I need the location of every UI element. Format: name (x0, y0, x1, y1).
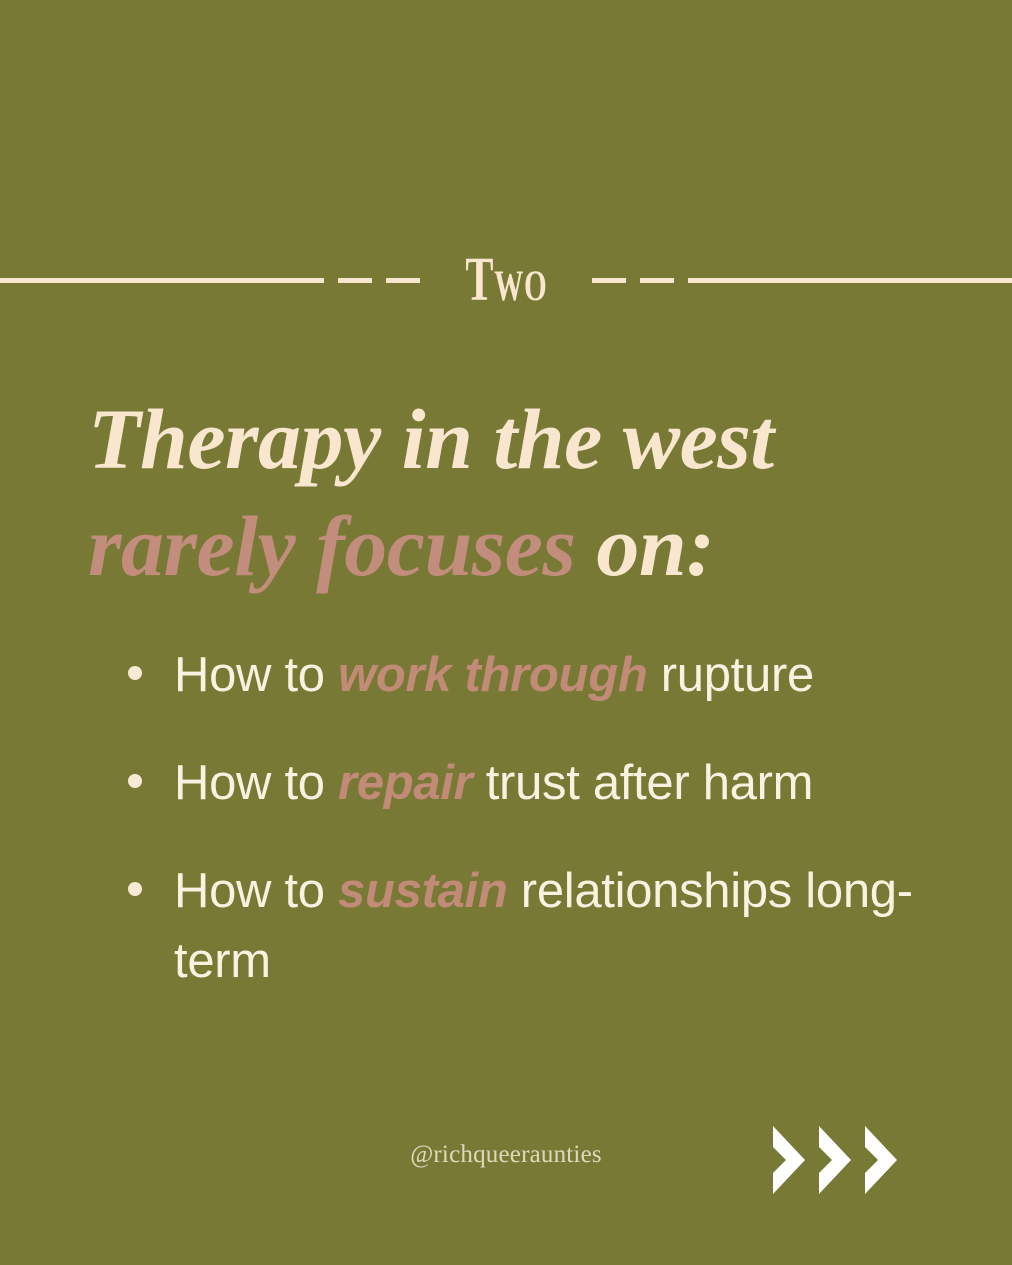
divider-right-rules (592, 232, 1012, 328)
divider-solid-rule-right (688, 278, 1012, 283)
divider-dash-right-2 (640, 278, 674, 283)
bullet-prefix: How to (174, 864, 338, 918)
bullet-emphasis: sustain (338, 864, 507, 918)
bullet-list: How to work through rupture How to repai… (128, 640, 928, 996)
divider-dash-left-2 (386, 278, 420, 283)
bullet-emphasis: repair (338, 756, 472, 810)
bullet-dot-icon (128, 666, 142, 680)
bullet-suffix: trust after harm (472, 756, 813, 810)
divider-dash-right-1 (592, 278, 626, 283)
bullet-dot-icon (128, 774, 142, 788)
bullet-text: How to work through rupture (174, 640, 928, 710)
bullet-dot-icon (128, 882, 142, 896)
headline-line-2-plain: on: (596, 498, 714, 594)
bullet-text: How to sustain relationships long-term (174, 856, 928, 996)
headline-accent: rarely focuses (88, 498, 575, 594)
divider-solid-rule-left (0, 278, 324, 283)
list-item: How to sustain relationships long-term (128, 856, 928, 996)
list-item: How to work through rupture (128, 640, 928, 710)
bullet-emphasis: work through (338, 648, 647, 702)
divider-dash-left-1 (338, 278, 372, 283)
section-number-label: Two (447, 249, 565, 311)
headline-line-1: Therapy in the west (88, 391, 774, 487)
triple-chevron-right-icon[interactable] (771, 1124, 916, 1196)
bullet-prefix: How to (174, 756, 338, 810)
divider-left-rules (0, 232, 420, 328)
bullet-suffix: rupture (647, 648, 813, 702)
list-item: How to repair trust after harm (128, 748, 928, 818)
section-divider: Two (0, 232, 1012, 328)
page-title: Therapy in the west rarely focuses on: (88, 386, 948, 600)
bullet-prefix: How to (174, 648, 338, 702)
bullet-text: How to repair trust after harm (174, 748, 928, 818)
slide-canvas: Two Therapy in the west rarely focuses o… (0, 0, 1012, 1265)
